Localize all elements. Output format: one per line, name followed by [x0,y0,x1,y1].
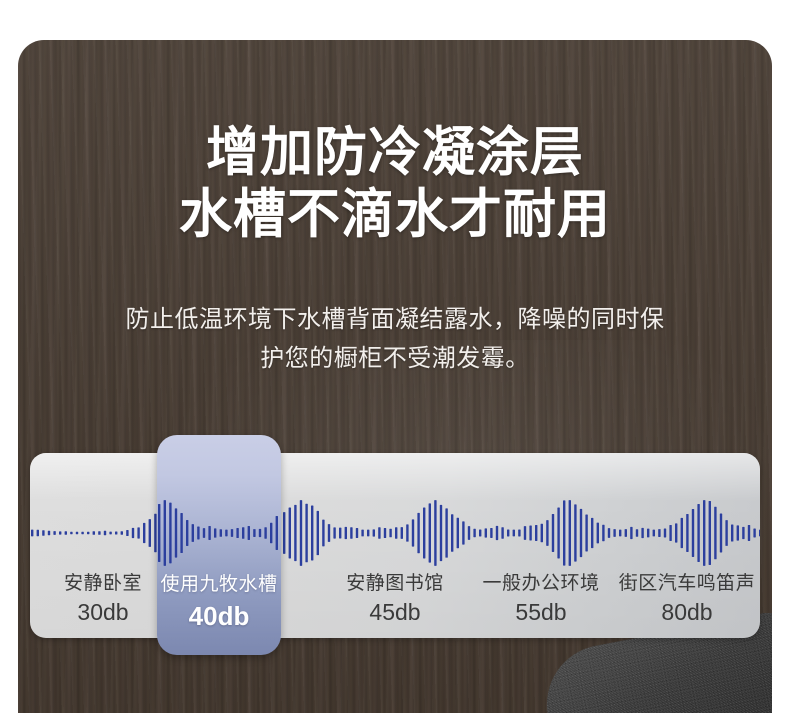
page-headline: 增加防冷凝涂层 水槽不滴水才耐用 [0,122,790,246]
noise-env-label: 安静卧室 [30,571,176,597]
noise-env-label: 一般办公环境 [468,571,614,597]
noise-db-value: 80db [614,597,760,627]
highlighted-card-labels: 使用九牧水槽 40db [157,571,281,633]
headline-line-1: 增加防冷凝涂层 [0,122,790,184]
subtitle-line-2: 护您的橱柜不受潮发霉。 [70,339,720,378]
highlighted-env-label: 使用九牧水槽 [157,571,281,599]
audio-waveform-graphic [30,498,760,568]
subtitle-line-1: 防止低温环境下水槽背面凝结露水，降噪的同时保 [70,300,720,339]
highlighted-db-value: 40db [157,599,281,633]
noise-label-cell[interactable]: 安静卧室30db [30,571,176,637]
noise-db-value: 45db [322,597,468,627]
noise-label-cell[interactable]: 街区汽车鸣笛声80db [614,571,760,637]
noise-env-label: 安静图书馆 [322,571,468,597]
sink-rim-edge [569,640,772,713]
noise-comparison-panel: 安静卧室30db使用九牧水槽40db安静图书馆45db一般办公环境55db街区汽… [30,453,760,638]
noise-label-cell[interactable]: 一般办公环境55db [468,571,614,637]
noise-db-value: 55db [468,597,614,627]
noise-env-label: 街区汽车鸣笛声 [614,571,760,597]
highlighted-noise-card[interactable]: 使用九牧水槽 40db [157,435,281,655]
page-subtitle: 防止低温环境下水槽背面凝结露水，降噪的同时保 护您的橱柜不受潮发霉。 [70,300,720,378]
noise-label-cell[interactable]: 安静图书馆45db [322,571,468,637]
noise-level-labels-row: 安静卧室30db使用九牧水槽40db安静图书馆45db一般办公环境55db街区汽… [30,571,760,637]
noise-db-value: 30db [30,597,176,627]
highlighted-audio-waveform-graphic [157,498,281,568]
headline-line-2: 水槽不滴水才耐用 [0,184,790,246]
